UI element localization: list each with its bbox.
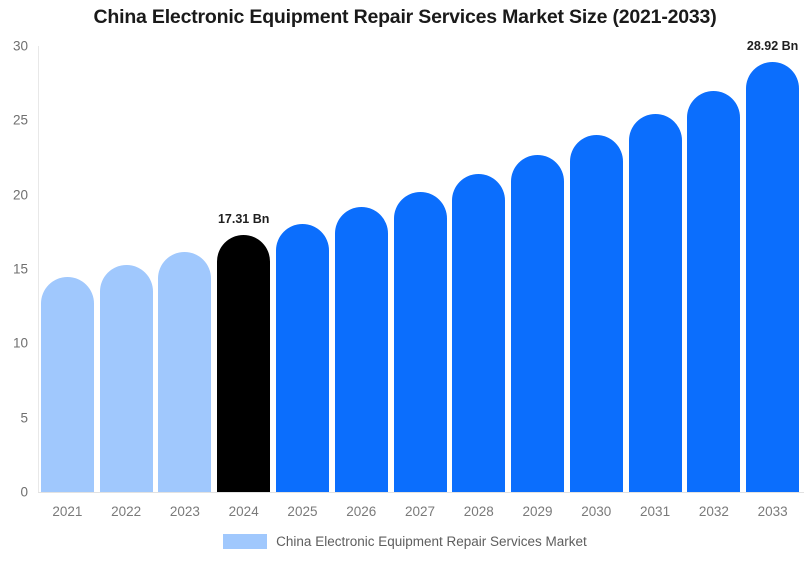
y-axis-tick-label: 15	[0, 262, 28, 277]
y-axis-tick-label: 5	[0, 410, 28, 425]
y-axis-tick-label: 20	[0, 187, 28, 202]
chart-legend: China Electronic Equipment Repair Servic…	[0, 534, 810, 549]
bar-value-label: 28.92 Bn	[747, 39, 798, 53]
bar-2021[interactable]	[41, 277, 94, 492]
x-axis-tick-label: 2029	[523, 504, 553, 519]
bar-2029[interactable]	[511, 155, 564, 492]
x-axis-line	[38, 492, 804, 493]
bar-2028[interactable]	[452, 174, 505, 492]
bar-2027[interactable]	[394, 192, 447, 492]
legend-item[interactable]: China Electronic Equipment Repair Servic…	[223, 534, 587, 549]
bar-2032[interactable]	[687, 91, 740, 492]
x-axis-tick-label: 2030	[581, 504, 611, 519]
x-axis-tick-label: 2028	[464, 504, 494, 519]
x-axis-tick-label: 2027	[405, 504, 435, 519]
x-axis-tick-label: 2021	[52, 504, 82, 519]
x-axis-tick-label: 2023	[170, 504, 200, 519]
bar-2024[interactable]	[217, 235, 270, 492]
x-axis-tick-label: 2033	[758, 504, 788, 519]
y-axis-tick-label: 10	[0, 336, 28, 351]
y-axis-tick-group: 051015202530	[0, 0, 32, 562]
bar-value-label: 17.31 Bn	[218, 212, 269, 226]
bar-2025[interactable]	[276, 224, 329, 492]
bar-2022[interactable]	[100, 265, 153, 492]
legend-item-label: China Electronic Equipment Repair Servic…	[276, 534, 587, 549]
bar-2033[interactable]	[746, 62, 799, 492]
plot-area	[38, 46, 802, 492]
x-axis-tick-label: 2022	[111, 504, 141, 519]
bar-2030[interactable]	[570, 135, 623, 492]
y-axis-tick-label: 25	[0, 113, 28, 128]
bar-2026[interactable]	[335, 207, 388, 492]
x-axis-tick-label: 2032	[699, 504, 729, 519]
x-axis-tick-label: 2024	[229, 504, 259, 519]
bar-2023[interactable]	[158, 252, 211, 492]
x-axis-tick-label: 2026	[346, 504, 376, 519]
x-axis-tick-label: 2025	[287, 504, 317, 519]
y-axis-tick-label: 30	[0, 39, 28, 54]
chart-container: China Electronic Equipment Repair Servic…	[0, 0, 810, 562]
y-axis-tick-label: 0	[0, 485, 28, 500]
bar-2031[interactable]	[629, 114, 682, 492]
x-axis-tick-label: 2031	[640, 504, 670, 519]
chart-title: China Electronic Equipment Repair Servic…	[0, 6, 810, 29]
legend-swatch-icon	[223, 534, 267, 549]
